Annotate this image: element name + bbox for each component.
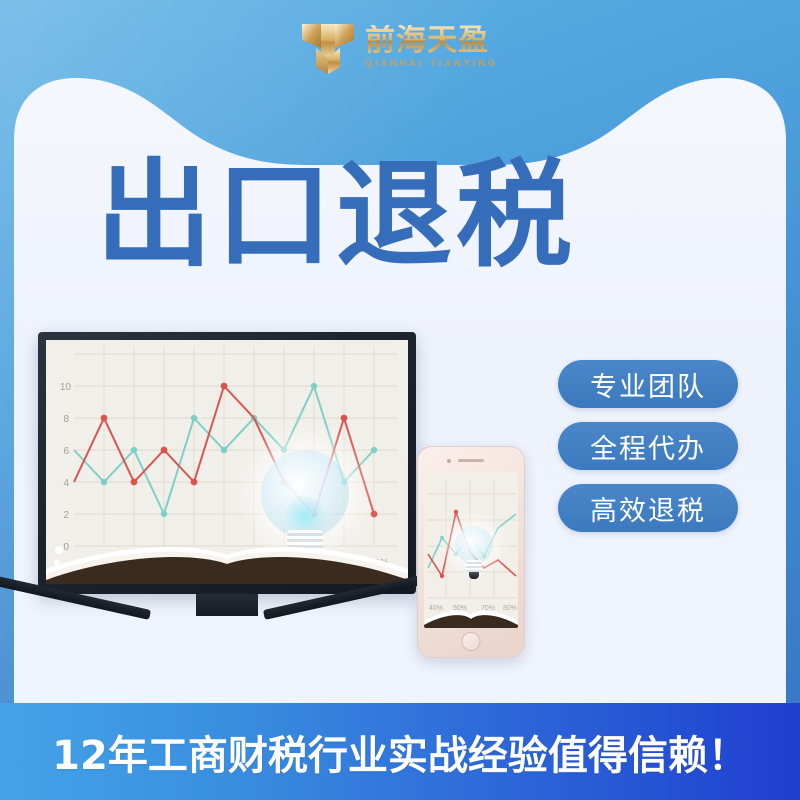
desktop-monitor: 0 2 4 6 8 10 10% 20% 30% 40% 50% 60 — [38, 332, 416, 594]
brand-text-block: 前海天盈 QIANHAI TIANYING — [365, 25, 498, 69]
monitor-screen: 0 2 4 6 8 10 10% 20% 30% 40% 50% 60 — [46, 340, 408, 584]
feature-pill-professional-team[interactable]: 专业团队 — [558, 360, 738, 408]
phone-open-book-icon — [424, 606, 518, 628]
phone-speaker — [458, 459, 484, 462]
feature-pill-full-service[interactable]: 全程代办 — [558, 422, 738, 470]
svg-text:2: 2 — [63, 510, 69, 521]
svg-text:6: 6 — [63, 446, 69, 457]
poster-canvas: 前海天盈 QIANHAI TIANYING 出口退税 — [0, 0, 800, 800]
svg-text:4: 4 — [63, 478, 69, 489]
phone-light-bulb-icon — [450, 526, 498, 584]
brand-name-cn: 前海天盈 — [365, 25, 498, 56]
pill-label: 高效退税 — [590, 489, 706, 528]
phone-bulb-tip — [469, 572, 479, 579]
bottom-banner: 12年工商财税行业实战经验值得信赖！ — [0, 703, 800, 800]
phone-camera-icon — [447, 459, 451, 463]
phone-bulb-glass — [455, 526, 493, 564]
page-title: 出口退税 — [96, 158, 576, 274]
trident-monogram-icon — [300, 18, 356, 76]
smartphone: 40% 50% 70% 80% — [417, 446, 525, 658]
feature-pill-list: 专业团队 全程代办 高效退税 — [558, 360, 738, 532]
phone-screen: 40% 50% 70% 80% — [424, 472, 518, 628]
pill-label: 全程代办 — [590, 427, 706, 466]
feature-pill-efficient-refund[interactable]: 高效退税 — [558, 484, 738, 532]
pill-label: 专业团队 — [590, 365, 706, 404]
svg-text:8: 8 — [63, 414, 69, 425]
svg-text:10: 10 — [60, 382, 72, 393]
banner-text: 12年工商财税行业实战经验值得信赖！ — [52, 723, 748, 781]
phone-home-button[interactable] — [462, 632, 481, 651]
open-book-icon — [46, 538, 408, 584]
monitor-stand-neck — [196, 594, 258, 616]
brand-logo: 前海天盈 QIANHAI TIANYING — [300, 14, 530, 80]
brand-name-en: QIANHAI TIANYING — [365, 58, 498, 69]
